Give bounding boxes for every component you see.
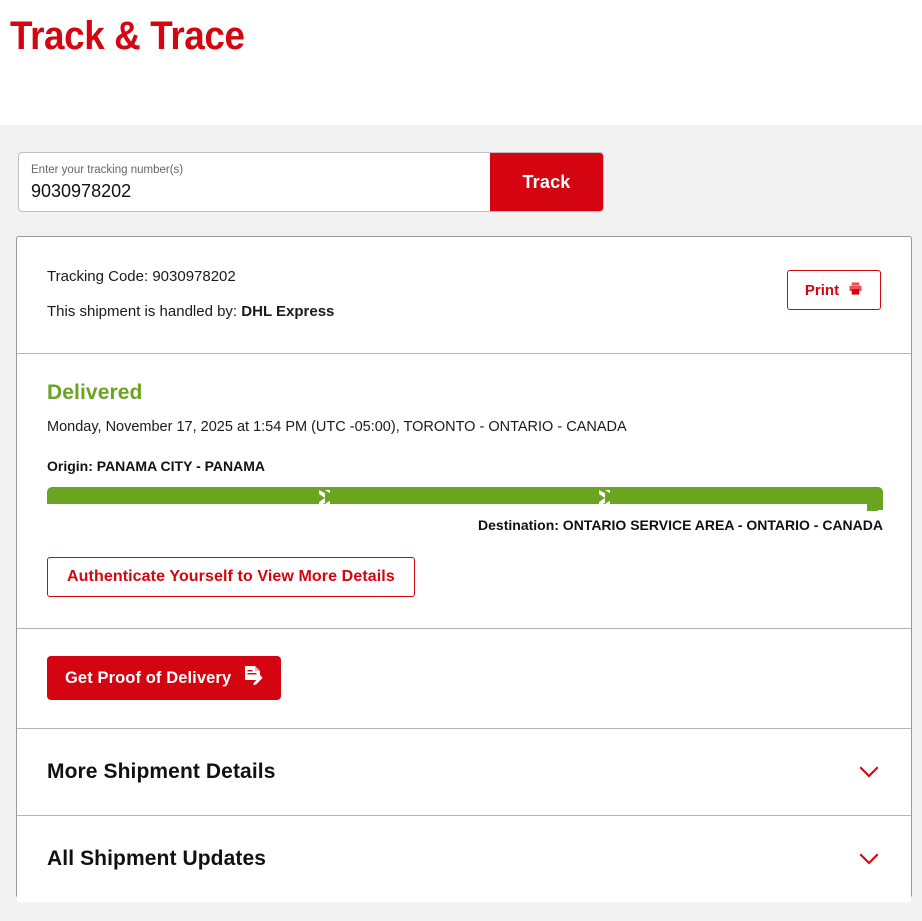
document-signature-icon [243, 665, 263, 692]
status-detail: Monday, November 17, 2025 at 1:54 PM (UT… [47, 417, 881, 437]
accordion-label: All Shipment Updates [47, 847, 266, 871]
accordion-all-shipment-updates[interactable]: All Shipment Updates [17, 816, 911, 902]
track-and-trace-page: Track & Trace Enter your tracking number… [0, 0, 922, 921]
shipment-progress-bar [47, 481, 883, 511]
tracking-number-input[interactable] [31, 179, 478, 203]
shipment-info-section: Tracking Code: 9030978202 This shipment … [17, 237, 911, 353]
page-header: Track & Trace [0, 0, 922, 125]
chevron-down-icon[interactable] [857, 760, 881, 784]
accordion-more-shipment-details[interactable]: More Shipment Details [17, 729, 911, 815]
origin-label: Origin: PANAMA CITY - PANAMA [47, 458, 881, 474]
tracking-code-text: Tracking Code: 9030978202 [47, 267, 881, 287]
destination-label: Destination: ONTARIO SERVICE AREA - ONTA… [47, 517, 883, 533]
shipment-status-section: Delivered Monday, November 17, 2025 at 1… [17, 354, 911, 628]
tracking-number-field[interactable]: Enter your tracking number(s) [19, 153, 490, 211]
authenticate-button[interactable]: Authenticate Yourself to View More Detai… [47, 557, 415, 597]
proof-of-delivery-section: Get Proof of Delivery [17, 629, 911, 728]
tracking-search-bar: Enter your tracking number(s) Track [18, 152, 604, 212]
carrier-name: DHL Express [241, 303, 334, 320]
pod-button-label: Get Proof of Delivery [65, 669, 231, 688]
shipment-result-card: Tracking Code: 9030978202 This shipment … [16, 236, 912, 898]
print-button-label: Print [805, 282, 839, 299]
get-proof-of-delivery-button[interactable]: Get Proof of Delivery [47, 656, 281, 700]
track-button[interactable]: Track [490, 153, 603, 211]
handled-by-prefix: This shipment is handled by: [47, 303, 237, 320]
handled-by-text: This shipment is handled by: DHL Express [47, 302, 881, 322]
chevron-down-icon[interactable] [857, 847, 881, 871]
printer-icon [848, 281, 863, 300]
status-title: Delivered [47, 380, 881, 406]
print-button[interactable]: Print [787, 270, 881, 310]
tracking-number-label: Enter your tracking number(s) [31, 163, 478, 177]
page-title: Track & Trace [10, 11, 245, 61]
accordion-label: More Shipment Details [47, 760, 275, 784]
